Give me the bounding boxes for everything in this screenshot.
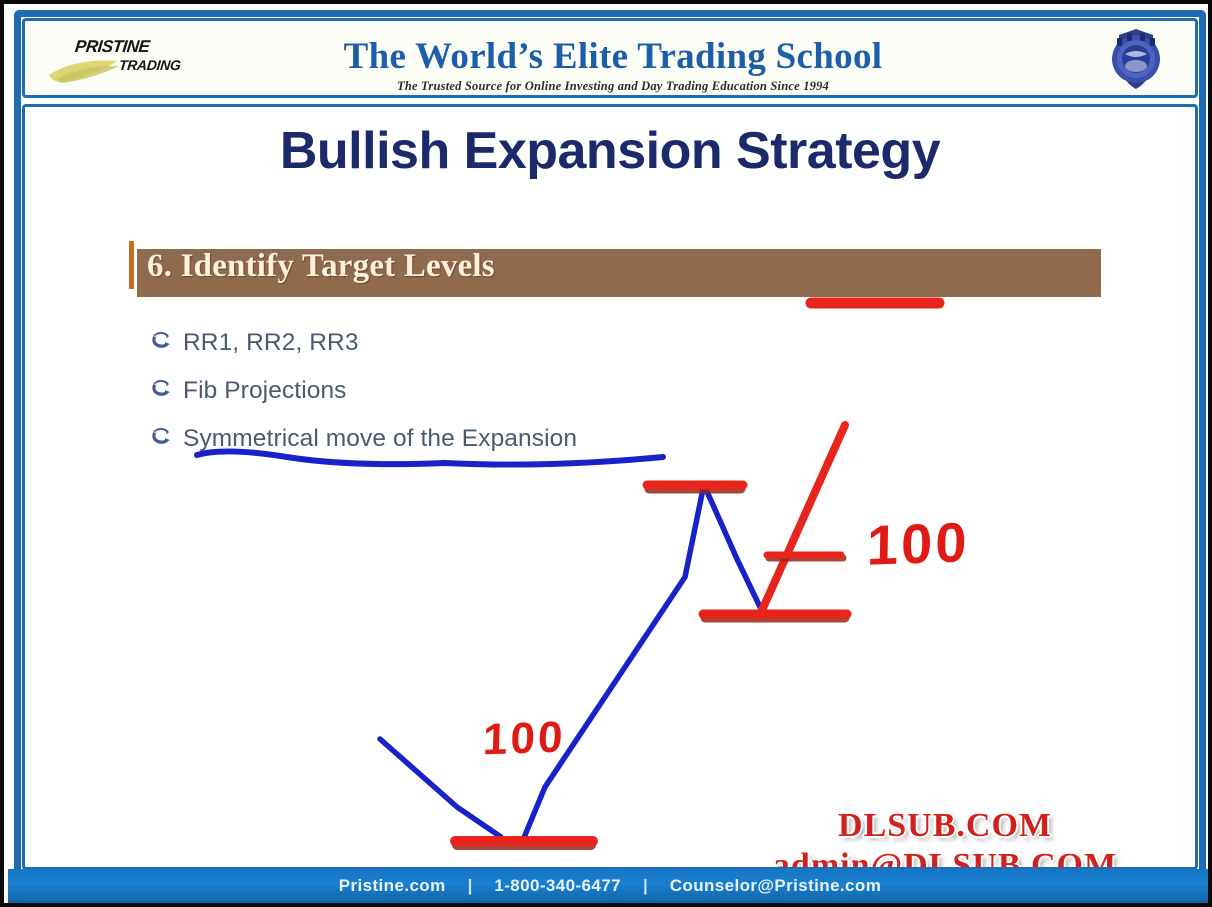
list-item: Fib Projections (149, 367, 849, 415)
slide-canvas: PRISTINE TRADING The World’s Elite Tradi… (0, 0, 1212, 907)
list-item-label: Fib Projections (183, 377, 347, 405)
list-item-label: Symmetrical move of the Expansion (183, 425, 577, 453)
pristine-seal-icon (1103, 26, 1169, 94)
list-item-label: RR1, RR2, RR3 (183, 329, 359, 357)
blue-price-expansion-leg (523, 489, 703, 840)
watermark-site: DLSUB.COM (685, 807, 1198, 845)
curved-arrow-bullet-icon (149, 331, 183, 355)
header-tagline: The Trusted Source for Online Investing … (25, 79, 1198, 94)
footer-website[interactable]: Pristine.com (339, 876, 446, 896)
section-banner: 6. Identify Target Levels (129, 241, 1101, 297)
header-title: The World’s Elite Trading School (25, 35, 1198, 78)
footer-phone[interactable]: 1-800-340-6477 (494, 876, 621, 896)
watermark-email: admin@DLSUB.COM (685, 847, 1198, 870)
blue-price-pullback-leg (705, 487, 761, 609)
curved-arrow-bullet-icon (149, 427, 183, 451)
hand-drawn-annotation-layer (25, 107, 1198, 870)
page-title: Bullish Expansion Strategy (25, 121, 1195, 181)
watermark: DLSUB.COM admin@DLSUB.COM (685, 807, 1198, 870)
slide-body: Bullish Expansion Strategy 6. Identify T… (22, 104, 1198, 870)
section-banner-label: 6. Identify Target Levels (147, 243, 495, 291)
handwritten-measure-top: 100 (866, 509, 970, 578)
slide-footer: Pristine.com | 1-800-340-6477 | Counselo… (8, 869, 1212, 903)
list-item: Symmetrical move of the Expansion (149, 415, 849, 463)
footer-email[interactable]: Counselor@Pristine.com (670, 876, 881, 896)
footer-separator: | (621, 876, 670, 896)
list-item: RR1, RR2, RR3 (149, 319, 849, 367)
slide-header: PRISTINE TRADING The World’s Elite Tradi… (22, 18, 1198, 98)
curved-arrow-bullet-icon (149, 379, 183, 403)
bullet-list: RR1, RR2, RR3 Fib Projections (149, 319, 849, 463)
handwritten-measure-bottom: 100 (482, 713, 566, 766)
footer-separator: | (446, 876, 495, 896)
